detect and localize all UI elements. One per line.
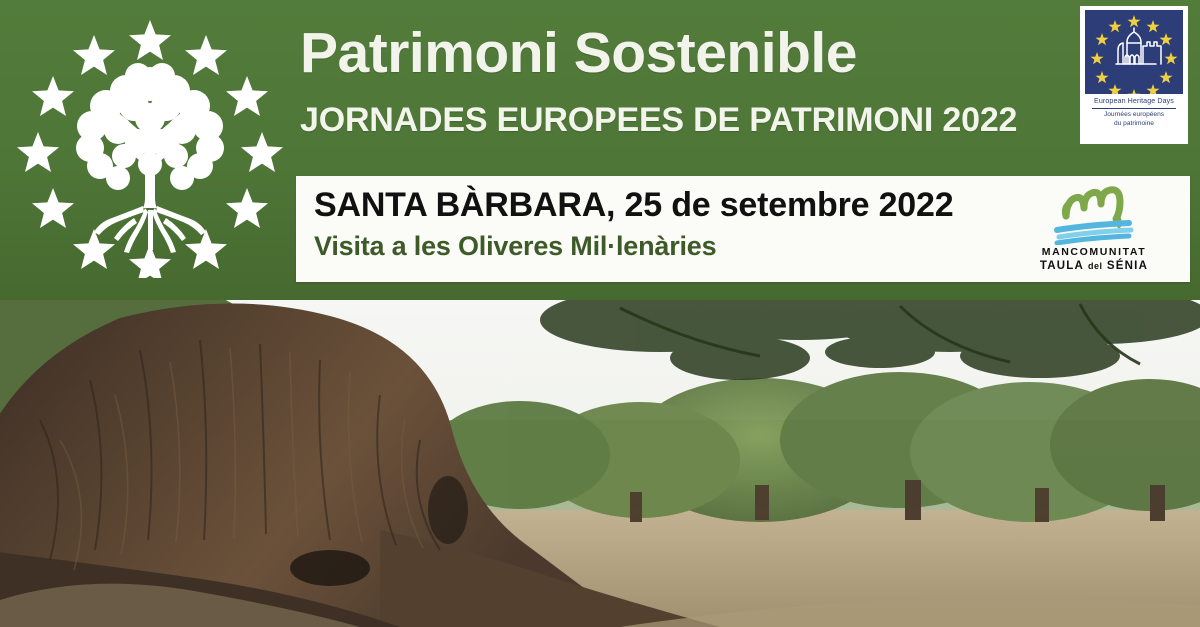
mancomunitat-name-taula: TAULA bbox=[1040, 260, 1084, 272]
mancomunitat-name-del: del bbox=[1088, 261, 1103, 271]
poster-root: Patrimoni Sostenible JORNADES EUROPEES D… bbox=[0, 0, 1200, 627]
mancomunitat-name-line2: TAULA del SÉNIA bbox=[1026, 259, 1162, 273]
mancomunitat-taula-del-senia-logo: MANCOMUNITAT TAULA del SÉNIA bbox=[1026, 183, 1162, 275]
event-photo bbox=[0, 300, 1200, 627]
event-location-date: SANTA BÀRBARA, 25 de setembre 2022 bbox=[314, 184, 953, 226]
eu-logo-caption-fr-2: du patrimoine bbox=[1084, 120, 1184, 129]
tree-with-roots-and-eu-stars-icon bbox=[14, 6, 286, 278]
event-activity: Visita a les Oliveres Mil·lenàries bbox=[314, 228, 953, 264]
mancomunitat-name-line1: MANCOMUNITAT bbox=[1026, 246, 1162, 259]
eu-logo-caption-fr-1: Journées européens bbox=[1084, 111, 1184, 120]
eu-logo-caption: European Heritage Days Journées européen… bbox=[1084, 97, 1184, 128]
headline-block: Patrimoni Sostenible JORNADES EUROPEES D… bbox=[300, 22, 1060, 140]
event-info-text: SANTA BÀRBARA, 25 de setembre 2022 Visit… bbox=[314, 184, 953, 264]
eu-logo-divider bbox=[1092, 108, 1176, 109]
european-heritage-days-logo: European Heritage Days Journées européen… bbox=[1080, 6, 1188, 144]
page-title: Patrimoni Sostenible bbox=[300, 22, 1060, 84]
page-subtitle: JORNADES EUROPEES DE PATRIMONI 2022 bbox=[300, 100, 1060, 140]
eu-flag-icon bbox=[1085, 10, 1183, 94]
mancomunitat-wordmark: MANCOMUNITAT TAULA del SÉNIA bbox=[1026, 246, 1162, 273]
mancomunitat-mark-icon bbox=[1026, 183, 1162, 245]
mancomunitat-name-senia: SÉNIA bbox=[1107, 260, 1148, 272]
eu-logo-caption-en: European Heritage Days bbox=[1084, 97, 1184, 106]
event-info-banner: SANTA BÀRBARA, 25 de setembre 2022 Visit… bbox=[296, 176, 1190, 282]
